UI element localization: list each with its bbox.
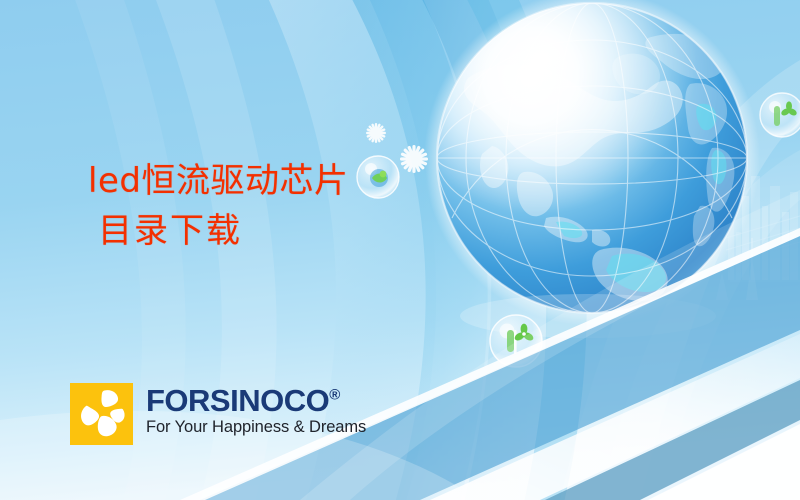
forsinoco-pinwheel-icon xyxy=(70,383,133,445)
headline-line-2: 目录下载 xyxy=(98,213,348,250)
sparkle-small xyxy=(366,123,386,143)
headline-text: led恒流驱动芯片 目录下载 xyxy=(88,163,348,249)
logo-name-text: FORSINOCO xyxy=(146,383,329,418)
sparkle-large xyxy=(400,145,428,173)
logo-company-name: FORSINOCO® xyxy=(146,385,366,416)
bubble-corner xyxy=(760,93,800,137)
company-logo[interactable]: FORSINOCO® For Your Happiness & Dreams xyxy=(70,383,366,445)
registered-trademark-icon: ® xyxy=(329,387,340,404)
bubble-globe xyxy=(357,156,399,198)
logo-wordmark: FORSINOCO® For Your Happiness & Dreams xyxy=(146,383,366,437)
logo-tagline: For Your Happiness & Dreams xyxy=(146,418,366,437)
banner-canvas: led恒流驱动芯片 目录下载 FORSINOCO® For xyxy=(0,0,800,500)
headline-line-1: led恒流驱动芯片 xyxy=(88,163,348,200)
